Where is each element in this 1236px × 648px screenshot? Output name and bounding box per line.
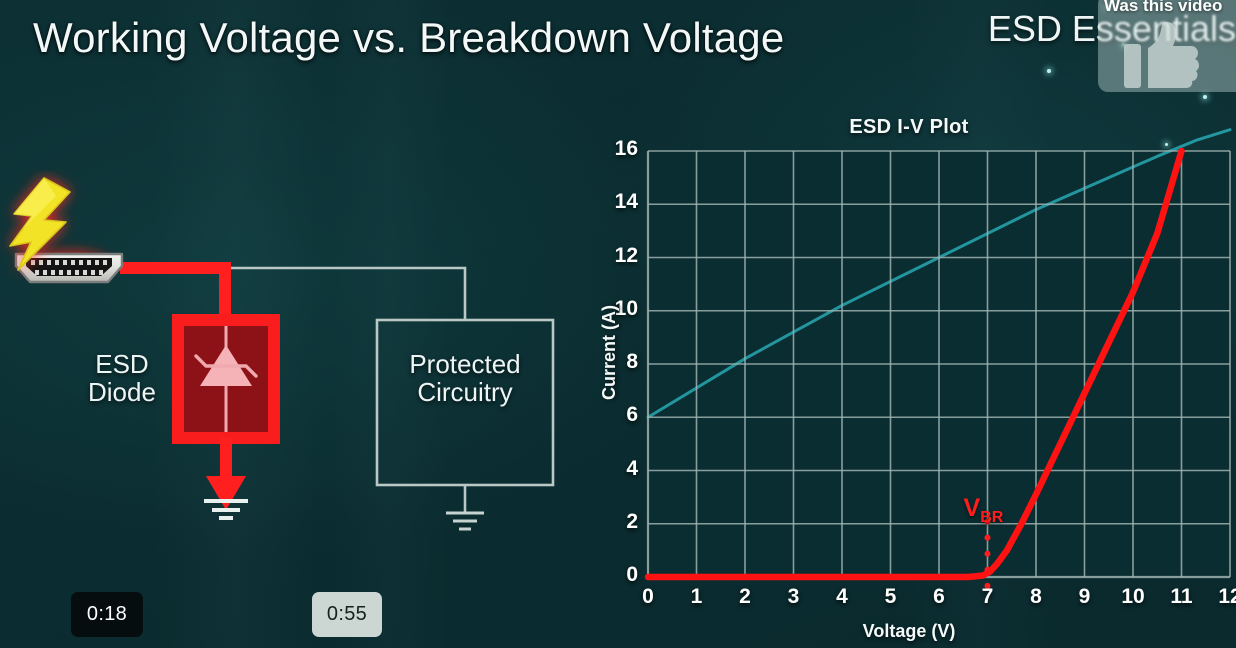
x-tick-label: 9	[1065, 585, 1105, 609]
protected-label-line1: Protected	[377, 350, 553, 378]
x-tick-label: 1	[677, 585, 717, 609]
page-title: Working Voltage vs. Breakdown Voltage	[33, 14, 784, 62]
esd-diode-label-line2: Diode	[88, 378, 156, 406]
x-tick-label: 12	[1210, 585, 1236, 609]
x-tick-label: 6	[919, 585, 959, 609]
y-tick-label: 0	[604, 563, 638, 587]
esd-iv-chart: ESD I-V Plot 024681012141601234567891011…	[588, 110, 1236, 648]
total-time-badge[interactable]: 0:55	[312, 592, 382, 637]
x-axis-label: Voltage (V)	[588, 621, 1230, 642]
vbr-annotation-label: VBR	[964, 494, 1004, 527]
y-tick-label: 2	[604, 510, 638, 534]
esd-diode-label-line1: ESD	[88, 350, 156, 378]
y-tick-label: 6	[604, 403, 638, 427]
survey-prompt: Was this video	[1104, 0, 1236, 16]
x-tick-label: 10	[1113, 585, 1153, 609]
y-tick-label: 14	[604, 190, 638, 214]
x-tick-label: 5	[871, 585, 911, 609]
ground-symbol-icon	[446, 513, 484, 529]
esd-diode-label: ESD Diode	[88, 350, 156, 406]
protected-circuitry-label: Protected Circuitry	[377, 350, 553, 406]
x-tick-label: 3	[774, 585, 814, 609]
survey-overlay[interactable]: Was this video	[1098, 0, 1236, 92]
thumbs-up-icon[interactable]	[1124, 22, 1200, 88]
y-axis-label: Current (A)	[599, 305, 620, 400]
x-tick-label: 8	[1016, 585, 1056, 609]
x-tick-label: 11	[1162, 585, 1202, 609]
diode-ground-connection	[204, 438, 248, 518]
signal-wire	[130, 268, 465, 320]
esd-diode-block	[178, 320, 274, 438]
x-tick-label: 2	[725, 585, 765, 609]
y-tick-label: 12	[604, 244, 638, 268]
circuit-diagram: ESD Diode Protected Circuitry	[0, 170, 600, 570]
chart-title: ESD I-V Plot	[588, 116, 1230, 139]
video-frame: Working Voltage vs. Breakdown Voltage ES…	[0, 0, 1236, 648]
surge-path	[120, 268, 225, 320]
vbr-subscript: BR	[980, 509, 1003, 526]
protected-label-line2: Circuitry	[377, 378, 553, 406]
x-tick-label: 4	[822, 585, 862, 609]
x-tick-label: 0	[628, 585, 668, 609]
chart-plot-area	[588, 110, 1236, 648]
y-tick-label: 4	[604, 457, 638, 481]
current-time-badge[interactable]: 0:18	[71, 592, 143, 637]
y-tick-label: 16	[604, 137, 638, 161]
x-tick-label: 7	[968, 585, 1008, 609]
